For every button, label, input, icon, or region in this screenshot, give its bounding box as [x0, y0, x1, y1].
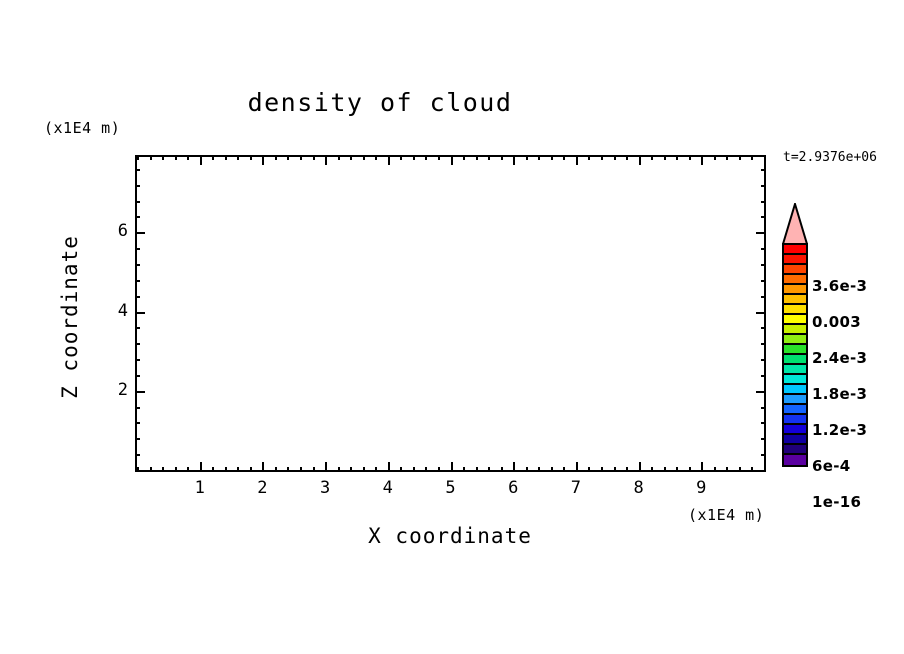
y-minor-tick — [135, 470, 140, 472]
y-minor-tick — [135, 280, 140, 282]
y-axis-unit-label: (x1E4 m) — [44, 119, 120, 137]
y-minor-tick — [135, 327, 140, 329]
colorbar-tick-label: 1.2e-3 — [812, 421, 867, 439]
x-tick-label: 7 — [561, 478, 591, 498]
x-major-tick — [576, 462, 578, 472]
colorbar-band — [784, 255, 806, 265]
y-minor-tick — [135, 201, 140, 203]
x-minor-tick — [313, 467, 315, 472]
x-tick-label: 2 — [247, 478, 277, 498]
y-major-tick — [135, 391, 145, 393]
x-minor-tick-top — [225, 155, 227, 160]
y-minor-tick-right — [761, 375, 766, 377]
x-minor-tick — [476, 467, 478, 472]
x-minor-tick-top — [501, 155, 503, 160]
x-axis-unit-label: (x1E4 m) — [688, 506, 764, 524]
x-minor-tick — [375, 467, 377, 472]
x-minor-tick — [250, 467, 252, 472]
y-minor-tick — [135, 359, 140, 361]
x-minor-tick-top — [626, 155, 628, 160]
x-minor-tick-top — [689, 155, 691, 160]
x-minor-tick-top — [476, 155, 478, 160]
y-minor-tick — [135, 438, 140, 440]
y-major-tick-right — [756, 232, 766, 234]
x-minor-tick — [287, 467, 289, 472]
colorbar-band — [784, 355, 806, 365]
x-minor-tick — [676, 467, 678, 472]
y-minor-tick-right — [761, 422, 766, 424]
x-minor-tick-top — [651, 155, 653, 160]
y-minor-tick-right — [761, 264, 766, 266]
x-minor-tick — [588, 467, 590, 472]
y-minor-tick-right — [761, 201, 766, 203]
y-minor-tick — [135, 216, 140, 218]
x-tick-label: 4 — [373, 478, 403, 498]
y-minor-tick-right — [761, 280, 766, 282]
x-minor-tick-top — [187, 155, 189, 160]
y-minor-tick-right — [761, 327, 766, 329]
x-tick-label: 1 — [185, 478, 215, 498]
colorbar — [782, 243, 808, 467]
x-minor-tick-top — [212, 155, 214, 160]
x-minor-tick — [463, 467, 465, 472]
x-minor-tick — [162, 467, 164, 472]
y-minor-tick — [135, 407, 140, 409]
colorbar-band — [784, 415, 806, 425]
x-minor-tick-top — [664, 155, 666, 160]
x-minor-tick — [300, 467, 302, 472]
colorbar-tick-label: 0.003 — [812, 313, 861, 331]
x-minor-tick — [739, 467, 741, 472]
y-major-tick — [135, 232, 145, 234]
colorbar-band — [784, 335, 806, 345]
x-minor-tick — [413, 467, 415, 472]
x-minor-tick-top — [300, 155, 302, 160]
colorbar-band — [784, 405, 806, 415]
x-major-tick-top — [451, 155, 453, 165]
y-minor-tick-right — [761, 296, 766, 298]
y-major-tick — [135, 312, 145, 314]
x-minor-tick — [275, 467, 277, 472]
x-minor-tick-top — [250, 155, 252, 160]
colorbar-band — [784, 385, 806, 395]
x-tick-label: 9 — [686, 478, 716, 498]
x-minor-tick-top — [363, 155, 365, 160]
x-minor-tick — [538, 467, 540, 472]
x-minor-tick-top — [588, 155, 590, 160]
x-major-tick — [262, 462, 264, 472]
x-minor-tick-top — [338, 155, 340, 160]
x-minor-tick — [438, 467, 440, 472]
y-minor-tick — [135, 248, 140, 250]
x-minor-tick-top — [526, 155, 528, 160]
x-major-tick-top — [388, 155, 390, 165]
timestamp-label: t=2.9376e+06 — [783, 150, 877, 165]
x-minor-tick-top — [714, 155, 716, 160]
y-minor-tick-right — [761, 407, 766, 409]
x-minor-tick — [551, 467, 553, 472]
y-minor-tick — [135, 169, 140, 171]
y-axis-title: Z coordinate — [58, 217, 82, 417]
colorbar-band — [784, 455, 806, 465]
y-tick-label: 4 — [104, 301, 128, 321]
y-major-tick-right — [756, 312, 766, 314]
x-minor-tick-top — [563, 155, 565, 160]
y-minor-tick — [135, 264, 140, 266]
x-major-tick — [325, 462, 327, 472]
x-minor-tick-top — [375, 155, 377, 160]
x-minor-tick — [175, 467, 177, 472]
x-minor-tick — [726, 467, 728, 472]
x-major-tick-top — [262, 155, 264, 165]
y-minor-tick-right — [761, 343, 766, 345]
y-minor-tick-right — [761, 359, 766, 361]
x-major-tick-top — [200, 155, 202, 165]
x-major-tick-top — [701, 155, 703, 165]
y-major-tick-right — [756, 391, 766, 393]
colorbar-band — [784, 395, 806, 405]
colorbar-tick-label: 1.8e-3 — [812, 385, 867, 403]
x-minor-tick — [626, 467, 628, 472]
x-minor-tick — [225, 467, 227, 472]
x-minor-tick — [501, 467, 503, 472]
x-minor-tick-top — [425, 155, 427, 160]
x-minor-tick-top — [350, 155, 352, 160]
x-axis-title: X coordinate — [240, 524, 660, 548]
x-major-tick-top — [513, 155, 515, 165]
x-minor-tick-top — [287, 155, 289, 160]
x-minor-tick-top — [438, 155, 440, 160]
colorbar-band — [784, 305, 806, 315]
colorbar-tick-label: 6e-4 — [812, 457, 850, 475]
x-major-tick — [701, 462, 703, 472]
colorbar-band — [784, 265, 806, 275]
colorbar-tick-label: 2.4e-3 — [812, 349, 867, 367]
x-minor-tick — [187, 467, 189, 472]
x-major-tick — [388, 462, 390, 472]
y-minor-tick — [135, 422, 140, 424]
x-minor-tick-top — [488, 155, 490, 160]
x-minor-tick-top — [150, 155, 152, 160]
x-minor-tick — [614, 467, 616, 472]
x-minor-tick-top — [463, 155, 465, 160]
x-minor-tick-top — [400, 155, 402, 160]
colorbar-band — [784, 365, 806, 375]
x-minor-tick-top — [764, 155, 766, 160]
y-minor-tick-right — [761, 185, 766, 187]
x-minor-tick-top — [739, 155, 741, 160]
x-minor-tick-top — [551, 155, 553, 160]
x-minor-tick — [237, 467, 239, 472]
y-minor-tick-right — [761, 169, 766, 171]
x-minor-tick — [601, 467, 603, 472]
x-minor-tick-top — [538, 155, 540, 160]
y-tick-label: 6 — [104, 221, 128, 241]
x-minor-tick — [751, 467, 753, 472]
axis-tick-layer — [135, 155, 766, 472]
page-title: density of cloud — [0, 88, 760, 117]
x-minor-tick — [651, 467, 653, 472]
colorbar-band — [784, 285, 806, 295]
colorbar-tick-label: 1e-16 — [812, 493, 861, 511]
colorbar-tick-label: 3.6e-3 — [812, 277, 867, 295]
x-major-tick — [200, 462, 202, 472]
colorbar-band — [784, 315, 806, 325]
x-minor-tick-top — [162, 155, 164, 160]
colorbar-band — [784, 245, 806, 255]
x-tick-label: 5 — [436, 478, 466, 498]
x-minor-tick-top — [313, 155, 315, 160]
x-minor-tick-top — [237, 155, 239, 160]
x-tick-label: 6 — [498, 478, 528, 498]
x-minor-tick — [212, 467, 214, 472]
x-minor-tick — [526, 467, 528, 472]
y-minor-tick — [135, 343, 140, 345]
x-major-tick-top — [639, 155, 641, 165]
y-minor-tick — [135, 296, 140, 298]
y-minor-tick — [135, 185, 140, 187]
x-minor-tick-top — [676, 155, 678, 160]
colorbar-band — [784, 375, 806, 385]
x-minor-tick-top — [137, 155, 139, 160]
x-minor-tick — [689, 467, 691, 472]
x-minor-tick-top — [275, 155, 277, 160]
y-minor-tick-right — [761, 216, 766, 218]
y-minor-tick-right — [761, 438, 766, 440]
y-minor-tick-right — [761, 470, 766, 472]
x-minor-tick — [363, 467, 365, 472]
x-minor-tick — [488, 467, 490, 472]
y-tick-label: 2 — [104, 380, 128, 400]
x-major-tick-top — [325, 155, 327, 165]
colorbar-band — [784, 435, 806, 445]
x-major-tick-top — [576, 155, 578, 165]
x-minor-tick-top — [175, 155, 177, 160]
colorbar-band — [784, 425, 806, 435]
colorbar-band — [784, 325, 806, 335]
x-minor-tick — [714, 467, 716, 472]
colorbar-band — [784, 295, 806, 305]
x-minor-tick-top — [601, 155, 603, 160]
x-minor-tick — [664, 467, 666, 472]
x-minor-tick-top — [751, 155, 753, 160]
x-minor-tick — [338, 467, 340, 472]
x-tick-label: 8 — [624, 478, 654, 498]
colorbar-band — [784, 345, 806, 355]
x-minor-tick-top — [726, 155, 728, 160]
colorbar-arrow-icon — [782, 203, 808, 245]
x-minor-tick — [350, 467, 352, 472]
x-minor-tick — [400, 467, 402, 472]
y-minor-tick — [135, 375, 140, 377]
x-major-tick — [513, 462, 515, 472]
x-minor-tick — [425, 467, 427, 472]
colorbar-band — [784, 275, 806, 285]
y-minor-tick-right — [761, 248, 766, 250]
y-minor-tick-right — [761, 454, 766, 456]
x-minor-tick-top — [614, 155, 616, 160]
x-major-tick — [639, 462, 641, 472]
x-minor-tick — [150, 467, 152, 472]
x-minor-tick — [563, 467, 565, 472]
x-tick-label: 3 — [310, 478, 340, 498]
x-major-tick — [451, 462, 453, 472]
y-minor-tick — [135, 454, 140, 456]
x-minor-tick-top — [413, 155, 415, 160]
colorbar-band — [784, 445, 806, 455]
